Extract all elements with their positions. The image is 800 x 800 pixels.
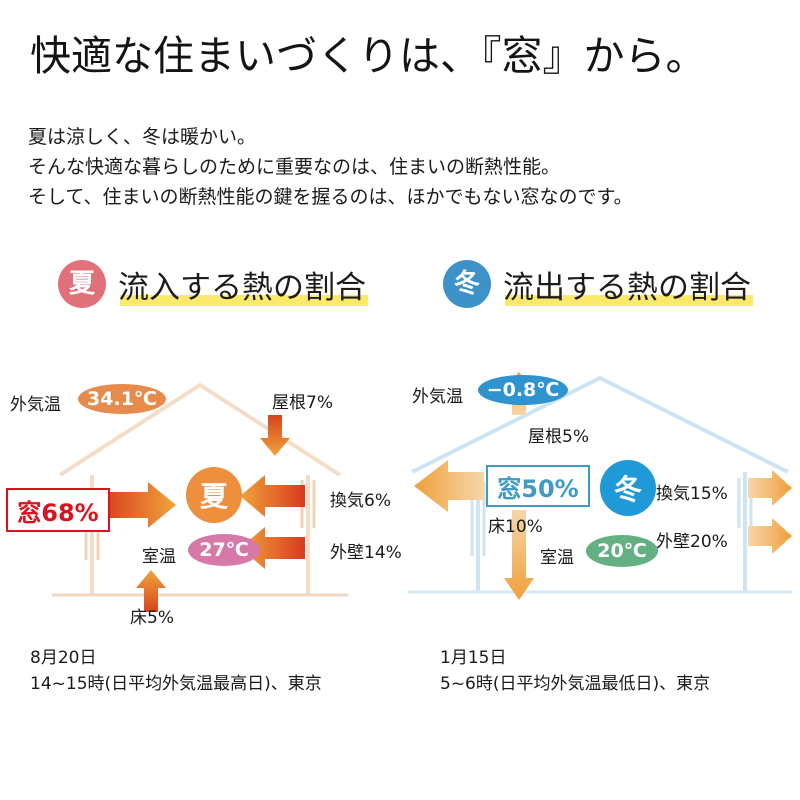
winter-caption-line-2: 5~6時(日平均外気温最低日)、東京 (440, 671, 710, 697)
section-header-winter: 冬 流出する熱の割合 (443, 260, 751, 308)
lede-line-2: そんな快適な暮らしのために重要なのは、住まいの断熱性能。 (28, 152, 633, 182)
summer-inside-temp-value: 27℃ (188, 534, 260, 566)
summer-caption-line-1: 8月20日 (30, 645, 322, 671)
infographic-page: 快適な住まいづくりは、『窓』から。 夏は涼しく、冬は暖かい。 そんな快適な暮らし… (0, 0, 800, 800)
winter-wall-share: 外壁20% (656, 527, 728, 552)
winter-heading: 流出する熱の割合 (503, 262, 751, 307)
summer-window-arrow (100, 482, 176, 528)
summer-season-mark: 夏 (186, 467, 242, 523)
lede-line-1: 夏は涼しく、冬は暖かい。 (28, 122, 633, 152)
summer-house-diagram: 外気温 34.1℃ 夏 室温 27℃ 窓68% 屋根7% 換気6% 外壁14% … (0, 360, 400, 630)
winter-roof-share: 屋根5% (528, 422, 589, 447)
winter-vent-arrow (748, 470, 792, 506)
summer-outside-temp-label: 外気温 (10, 390, 61, 415)
winter-badge: 冬 (443, 260, 491, 308)
winter-floor-share: 床10% (488, 512, 543, 537)
summer-wall-share: 外壁14% (330, 538, 402, 563)
summer-vent-arrow (240, 475, 305, 517)
summer-heading: 流入する熱の割合 (118, 262, 366, 307)
summer-vent-share: 換気6% (330, 486, 391, 511)
winter-caption: 1月15日 5~6時(日平均外気温最低日)、東京 (440, 645, 710, 697)
summer-roof-arrow (260, 415, 290, 456)
winter-season-mark: 冬 (600, 460, 656, 516)
lede-paragraph: 夏は涼しく、冬は暖かい。 そんな快適な暮らしのために重要なのは、住まいの断熱性能… (28, 122, 633, 212)
winter-window-share: 窓50% (486, 465, 590, 507)
winter-outside-temp-label: 外気温 (412, 382, 463, 407)
summer-badge: 夏 (58, 260, 106, 308)
summer-roof-share: 屋根7% (272, 388, 333, 413)
lede-line-3: そして、住まいの断熱性能の鍵を握るのは、ほかでもない窓なのです。 (28, 182, 633, 212)
winter-inside-temp-value: 20℃ (586, 535, 658, 567)
winter-wall-arrow (748, 518, 792, 554)
winter-caption-line-1: 1月15日 (440, 645, 710, 671)
summer-floor-share: 床5% (130, 603, 174, 628)
winter-inside-temp-label: 室温 (540, 543, 574, 568)
section-header-summer: 夏 流入する熱の割合 (58, 260, 366, 308)
summer-window-share: 窓68% (6, 488, 110, 532)
page-title: 快適な住まいづくりは、『窓』から。 (30, 22, 707, 82)
winter-house-diagram: 外気温 −0.8℃ 冬 室温 20℃ 窓50% 屋根5% 換気15% 外壁20%… (400, 360, 800, 630)
summer-inside-temp-label: 室温 (142, 542, 176, 567)
winter-vent-share: 換気15% (656, 479, 728, 504)
summer-outside-temp-value: 34.1℃ (78, 384, 166, 414)
winter-outside-temp-value: −0.8℃ (478, 375, 568, 405)
summer-caption: 8月20日 14~15時(日平均外気温最高日)、東京 (30, 645, 322, 697)
summer-caption-line-2: 14~15時(日平均外気温最高日)、東京 (30, 671, 322, 697)
